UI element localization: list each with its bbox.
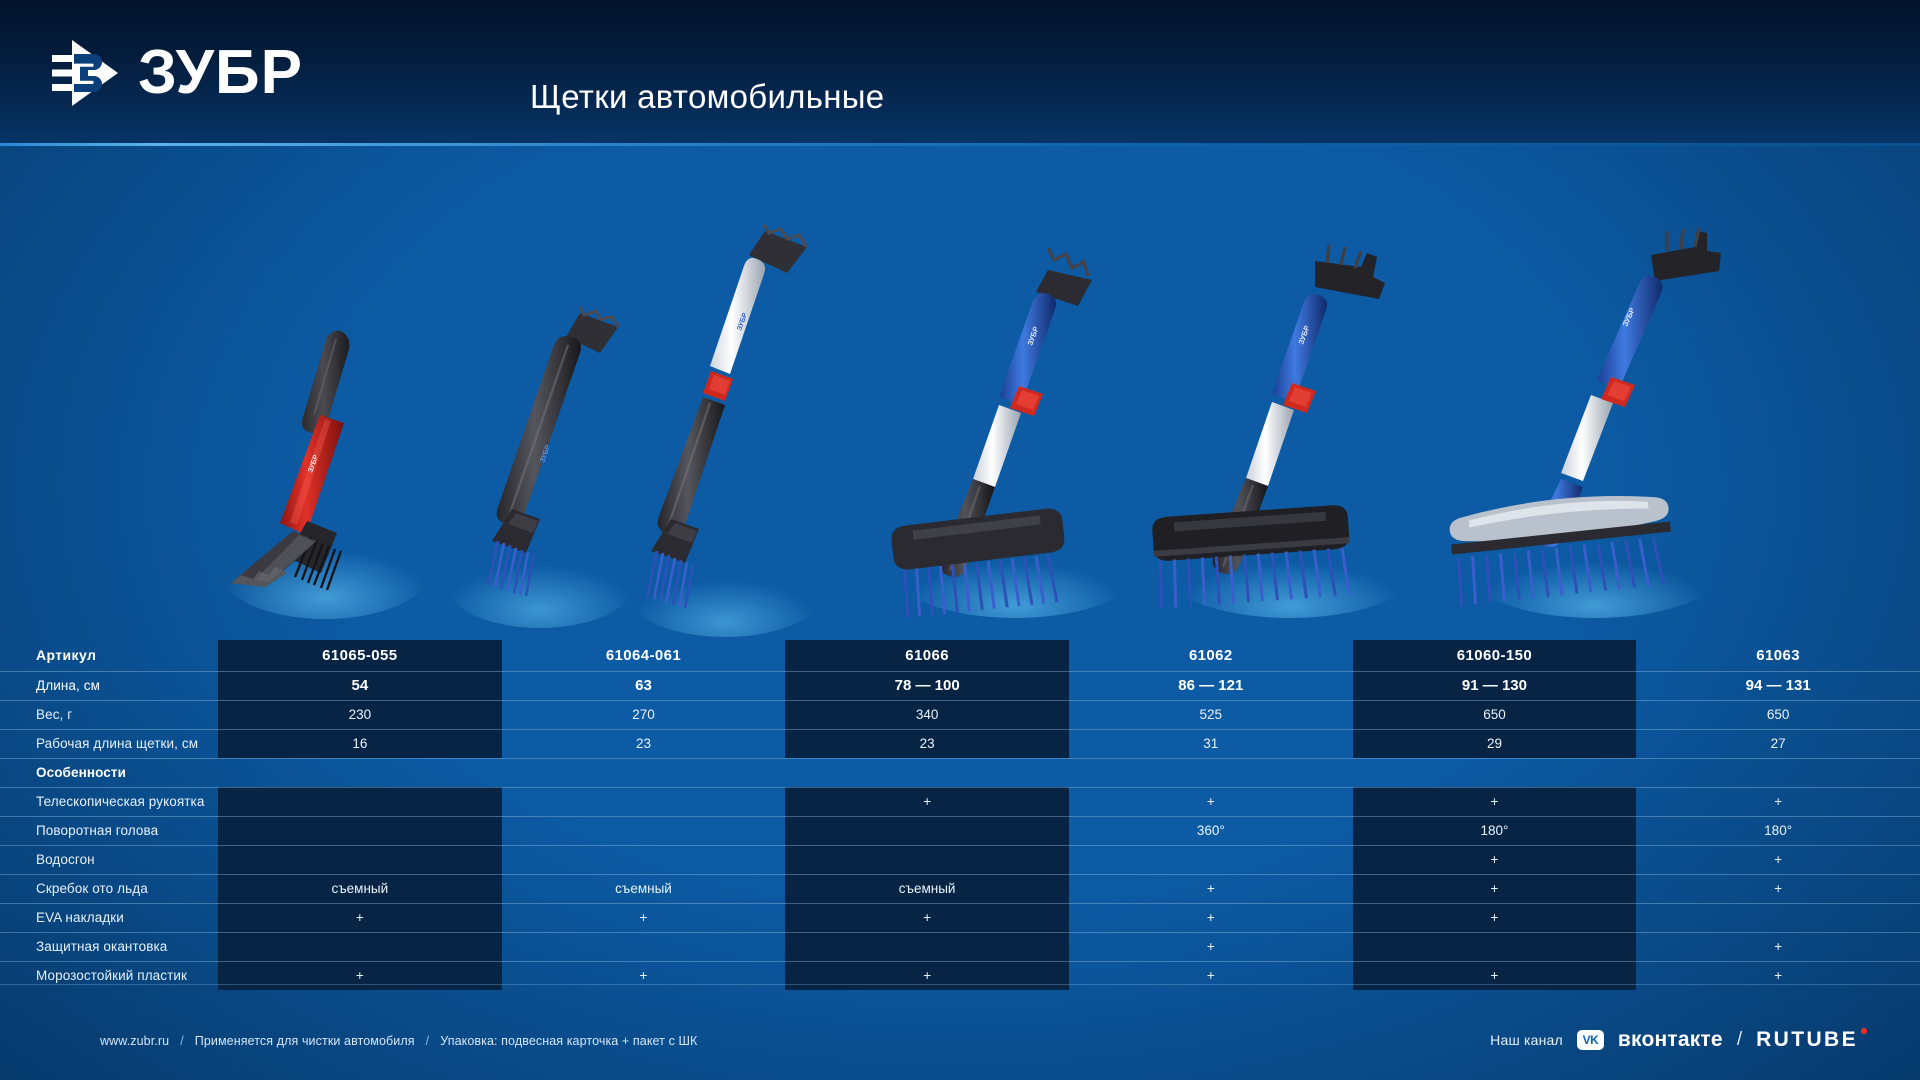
- section-spacer-4: [1069, 758, 1353, 787]
- page-title: Щетки автомобильные: [530, 78, 884, 116]
- row-label: Защитная окантовка: [0, 932, 218, 961]
- cell-article-61060-150: 61060-150: [1353, 640, 1637, 671]
- cell-telescopic-5: +: [1353, 787, 1637, 816]
- row-label: Длина, см: [0, 671, 218, 700]
- product-image-61065-055: ЗУБР: [215, 323, 445, 623]
- cell-article-61065-055: 61065-055: [218, 640, 502, 671]
- cell-weight-2: 270: [502, 700, 786, 729]
- cell-rotating-6: 180°: [1636, 816, 1920, 845]
- footer-divider: [0, 984, 1920, 985]
- cell-edging-2: [502, 932, 786, 961]
- cell-telescopic-4: +: [1069, 787, 1353, 816]
- cell-article-61066: 61066: [785, 640, 1069, 671]
- cell-working-2: 23: [502, 729, 786, 758]
- cell-weight-3: 340: [785, 700, 1069, 729]
- header-divider: [0, 143, 1920, 146]
- cell-working-1: 16: [218, 729, 502, 758]
- page-footer: www.zubr.ru / Применяется для чистки авт…: [0, 984, 1920, 1080]
- page-header: ЗУБР Щетки автомобильные: [0, 0, 1920, 143]
- brand-logo: ЗУБР: [52, 37, 303, 109]
- table-row-article: Артикул 61065-055 61064-061 61066 61062 …: [0, 640, 1920, 671]
- telescopic-snow-brush-icon: ЗУБР: [615, 223, 865, 643]
- cell-weight-6: 650: [1636, 700, 1920, 729]
- telescopic-brush-squeegee-icon: ЗУБР: [1155, 113, 1430, 623]
- vk-icon[interactable]: VK: [1577, 1030, 1604, 1050]
- cell-length-5: 91 — 130: [1353, 671, 1637, 700]
- row-label: Рабочая длина щетки, см: [0, 729, 218, 758]
- separator-1: /: [180, 1034, 184, 1048]
- table-row-weight: Вес, г 230 270 340 525 650 650: [0, 700, 1920, 729]
- cell-squeegee-5: +: [1353, 845, 1637, 874]
- cell-article-61064-061: 61064-061: [502, 640, 786, 671]
- cell-scraper-4: +: [1069, 874, 1353, 903]
- rutube-dot-icon: [1861, 1028, 1867, 1034]
- cell-article-61063: 61063: [1636, 640, 1920, 671]
- snow-brush-with-scraper-red-icon: ЗУБР: [215, 323, 445, 623]
- product-image-61060-150: ЗУБР: [1155, 113, 1430, 623]
- cell-eva-1: +: [218, 903, 502, 932]
- row-label: Поворотная голова: [0, 816, 218, 845]
- cell-length-6: 94 — 131: [1636, 671, 1920, 700]
- table-row-telescopic-handle: Телескопическая рукоятка + + + +: [0, 787, 1920, 816]
- table-row-protective-edging: Защитная окантовка + +: [0, 932, 1920, 961]
- rutube-link[interactable]: RUTUBE: [1756, 1028, 1858, 1052]
- packaging-note: Упаковка: подвесная карточка + пакет с Ш…: [440, 1034, 697, 1048]
- cell-rotating-2: [502, 816, 786, 845]
- cell-telescopic-1: [218, 787, 502, 816]
- social-separator: /: [1737, 1029, 1742, 1051]
- cell-telescopic-2: [502, 787, 786, 816]
- table-row-rotating-head: Поворотная голова 360° 180° 180°: [0, 816, 1920, 845]
- table-row-working-length: Рабочая длина щетки, см 16 23 23 31 29 2…: [0, 729, 1920, 758]
- cell-edging-4: +: [1069, 932, 1353, 961]
- specifications-table: Артикул 61065-055 61064-061 61066 61062 …: [0, 640, 1920, 990]
- row-label: Скребок ото льда: [0, 874, 218, 903]
- cell-squeegee-2: [502, 845, 786, 874]
- cell-eva-3: +: [785, 903, 1069, 932]
- section-spacer-6: [1636, 758, 1920, 787]
- cell-rotating-4: 360°: [1069, 816, 1353, 845]
- cell-squeegee-4: [1069, 845, 1353, 874]
- cell-edging-6: +: [1636, 932, 1920, 961]
- table-row-eva-pads: EVA накладки + + + + +: [0, 903, 1920, 932]
- cell-weight-5: 650: [1353, 700, 1637, 729]
- cell-eva-4: +: [1069, 903, 1353, 932]
- table-row-squeegee: Водосгон + +: [0, 845, 1920, 874]
- cell-edging-1: [218, 932, 502, 961]
- cell-weight-4: 525: [1069, 700, 1353, 729]
- cell-rotating-1: [218, 816, 502, 845]
- product-image-61066: ЗУБР: [615, 223, 865, 643]
- section-spacer-5: [1353, 758, 1637, 787]
- separator-2: /: [426, 1034, 430, 1048]
- cell-length-4: 86 — 121: [1069, 671, 1353, 700]
- cell-working-4: 31: [1069, 729, 1353, 758]
- section-spacer-1: [218, 758, 502, 787]
- website-link[interactable]: www.zubr.ru: [100, 1034, 169, 1048]
- cell-eva-2: +: [502, 903, 786, 932]
- zubr-bison-mark-icon: [52, 38, 120, 108]
- cell-length-2: 63: [502, 671, 786, 700]
- footer-info: www.zubr.ru / Применяется для чистки авт…: [100, 1034, 697, 1048]
- cell-squeegee-3: [785, 845, 1069, 874]
- cell-rotating-5: 180°: [1353, 816, 1637, 845]
- rutube-label: RUTUBE: [1756, 1028, 1858, 1051]
- cell-length-1: 54: [218, 671, 502, 700]
- row-label: Артикул: [0, 640, 218, 671]
- cell-working-6: 27: [1636, 729, 1920, 758]
- footer-social: Наш канал VK вконтакте / RUTUBE: [1490, 1028, 1858, 1052]
- cell-article-61062: 61062: [1069, 640, 1353, 671]
- cell-scraper-2: съемный: [502, 874, 786, 903]
- cell-eva-6: [1636, 903, 1920, 932]
- cell-scraper-6: +: [1636, 874, 1920, 903]
- cell-length-3: 78 — 100: [785, 671, 1069, 700]
- section-spacer-2: [502, 758, 786, 787]
- product-image-61063: ЗУБР: [1455, 113, 1745, 623]
- cell-working-3: 23: [785, 729, 1069, 758]
- cell-telescopic-6: +: [1636, 787, 1920, 816]
- cell-edging-5: [1353, 932, 1637, 961]
- cell-weight-1: 230: [218, 700, 502, 729]
- cell-working-5: 29: [1353, 729, 1637, 758]
- brand-name: ЗУБР: [138, 38, 303, 108]
- cell-scraper-5: +: [1353, 874, 1637, 903]
- telescopic-brush-wide-squeegee-icon: ЗУБР: [1455, 113, 1745, 623]
- poster-page: ЗУБР Щетки автомобильные: [0, 0, 1920, 1080]
- row-label: EVA накладки: [0, 903, 218, 932]
- application-note: Применяется для чистки автомобиля: [195, 1034, 415, 1048]
- table-row-length: Длина, см 54 63 78 — 100 86 — 121 91 — 1…: [0, 671, 1920, 700]
- channel-label: Наш канал: [1490, 1032, 1563, 1048]
- row-label: Телескопическая рукоятка: [0, 787, 218, 816]
- table-section-features: Особенности: [0, 758, 1920, 787]
- product-gallery: ЗУБР: [0, 143, 1920, 613]
- cell-squeegee-1: [218, 845, 502, 874]
- cell-scraper-3: съемный: [785, 874, 1069, 903]
- cell-rotating-3: [785, 816, 1069, 845]
- telescopic-brush-rotating-head-icon: ЗУБР: [880, 118, 1150, 618]
- section-spacer-3: [785, 758, 1069, 787]
- vkontakte-link[interactable]: вконтакте: [1618, 1028, 1723, 1052]
- row-label: Водосгон: [0, 845, 218, 874]
- cell-scraper-1: съемный: [218, 874, 502, 903]
- product-image-61062: ЗУБР: [880, 118, 1150, 618]
- row-label: Вес, г: [0, 700, 218, 729]
- cell-edging-3: [785, 932, 1069, 961]
- table-row-ice-scraper: Скребок ото льда съемный съемный съемный…: [0, 874, 1920, 903]
- cell-squeegee-6: +: [1636, 845, 1920, 874]
- cell-eva-5: +: [1353, 903, 1637, 932]
- section-label: Особенности: [0, 758, 218, 787]
- specifications-table-body: Артикул 61065-055 61064-061 61066 61062 …: [0, 640, 1920, 990]
- cell-telescopic-3: +: [785, 787, 1069, 816]
